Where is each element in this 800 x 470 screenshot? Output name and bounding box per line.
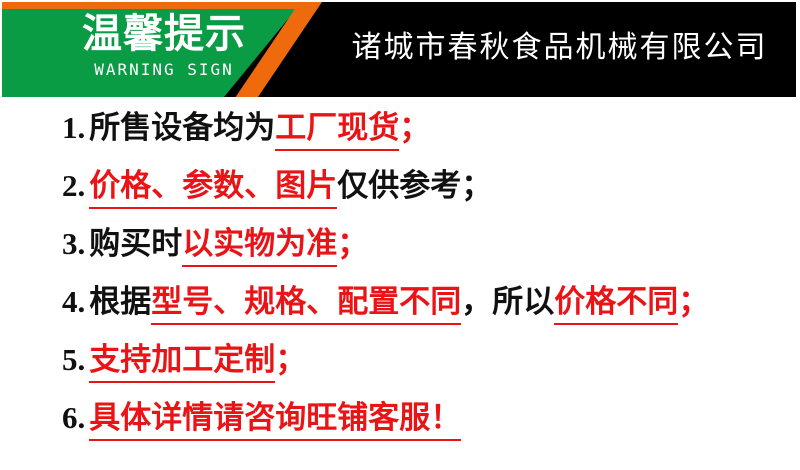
notice-item-highlight-text: 价格、参数、图片 (89, 168, 337, 209)
notice-item-text: 仅供参考； (337, 168, 492, 204)
notice-item-highlight-text: 型号、规格、配置不同 (151, 284, 461, 325)
notice-item-highlight-text: 价格不同 (554, 284, 678, 325)
notice-item-index: 5. (62, 342, 85, 377)
notice-item: 5.支持加工定制； (0, 331, 800, 389)
notice-item-text: 根据 (89, 284, 151, 320)
notice-item: 1.所售设备均为工厂现货； (0, 99, 800, 157)
notice-item: 2.价格、参数、图片仅供参考； (0, 157, 800, 215)
notice-item-highlight-text: ； (399, 110, 430, 146)
notice-item-index: 1. (62, 110, 85, 145)
notice-item-highlight-text: ； (337, 226, 368, 262)
notice-item-highlight-text: ； (275, 342, 306, 378)
banner-orange-top-rule (2, 2, 300, 9)
notice-item-highlight-text: 工厂现货 (275, 110, 399, 151)
banner-title-english: WARNING SIGN (54, 60, 274, 80)
warning-notice-page: 温馨提示 WARNING SIGN 诸城市春秋食品机械有限公司 1.所售设备均为… (0, 0, 800, 470)
notice-item-highlight-text: ； (678, 284, 709, 320)
header-banner: 温馨提示 WARNING SIGN 诸城市春秋食品机械有限公司 (2, 2, 796, 97)
notice-item: 4.根据型号、规格、配置不同，所以价格不同； (0, 273, 800, 331)
notice-item-highlight-text: 具体详情请咨询旺铺客服！ (89, 400, 461, 441)
notice-item-text: 购买时 (89, 226, 182, 262)
notice-item-text: 所售设备均为 (89, 110, 275, 146)
notice-item-index: 2. (62, 168, 85, 203)
notice-item: 3.购买时以实物为准； (0, 215, 800, 273)
banner-title-chinese: 温馨提示 (54, 10, 274, 58)
notice-item-highlight-text: 支持加工定制 (89, 342, 275, 383)
notice-item: 6.具体详情请咨询旺铺客服！ (0, 389, 800, 447)
notice-item-index: 4. (62, 284, 85, 319)
notice-list: 1.所售设备均为工厂现货；2.价格、参数、图片仅供参考；3.购买时以实物为准；4… (0, 99, 800, 470)
notice-item-highlight-text: 以实物为准 (182, 226, 337, 267)
notice-item-text: ，所以 (461, 284, 554, 320)
notice-item-index: 3. (62, 226, 85, 261)
company-name: 诸城市春秋食品机械有限公司 (332, 24, 787, 72)
notice-item-index: 6. (62, 400, 85, 435)
